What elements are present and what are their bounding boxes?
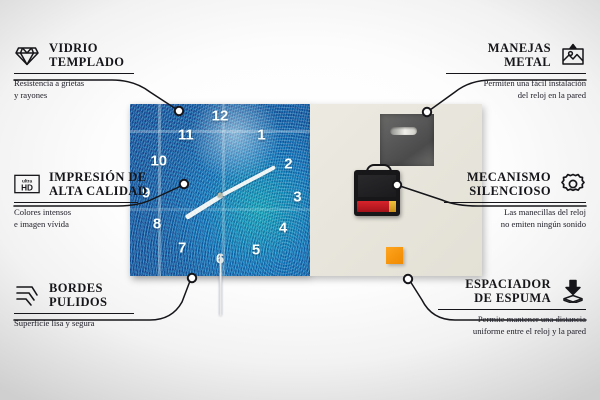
callout-bordes-pulidos: BORDES PULIDOS Superficie lisa y segura (14, 281, 214, 330)
callout-mecanismo-silencioso: MECANISMO SILENCIOSO Las manecillas del … (386, 170, 586, 230)
callout-description: Superficie lisa y segura (14, 318, 214, 330)
gear-icon (560, 172, 586, 196)
clock-numeral-10: 10 (150, 153, 167, 168)
clock-center-pin (218, 193, 223, 198)
callout-description: Las manecillas del reloj no emiten ningú… (386, 207, 586, 230)
callout-title: VIDRIO TEMPLADO (49, 41, 124, 69)
diamond-icon (14, 43, 40, 67)
callout-manejas-metal: MANEJAS METAL Permiten una fácil instala… (386, 41, 586, 101)
picture-hanger-icon (560, 43, 586, 67)
metal-hanger-plate (380, 114, 434, 166)
callout-divider (14, 73, 134, 74)
polished-edges-icon (14, 283, 40, 307)
clock-numeral-5: 5 (252, 243, 260, 258)
infographic-canvas: 12 1 2 3 4 5 6 7 8 9 10 11 (0, 0, 600, 400)
callout-header: MANEJAS METAL (386, 41, 586, 69)
callout-title: ESPACIADOR DE ESPUMA (465, 277, 551, 305)
callout-header: ultra HD IMPRESIÓN DE ALTA CALIDAD (14, 170, 214, 198)
callout-title: BORDES PULIDOS (49, 281, 107, 309)
svg-text:HD: HD (21, 184, 33, 193)
callout-divider (446, 73, 586, 74)
clock-numeral-4: 4 (279, 220, 287, 235)
callout-header: ESPACIADOR DE ESPUMA (386, 277, 586, 305)
hanger-slot (390, 127, 417, 135)
callout-divider (14, 202, 138, 203)
callout-title: MANEJAS METAL (488, 41, 551, 69)
callout-title: IMPRESIÓN DE ALTA CALIDAD (49, 170, 147, 198)
callout-description: Permiten una fácil instalación del reloj… (386, 78, 586, 101)
foam-spacer-sample (386, 247, 403, 264)
callout-espaciador-espuma: ESPACIADOR DE ESPUMA Permite mantener un… (386, 277, 586, 337)
callout-vidrio-templado: VIDRIO TEMPLADO Resistencia a grietas y … (14, 41, 214, 101)
callout-header: VIDRIO TEMPLADO (14, 41, 214, 69)
callout-description: Colores intensos e imagen vívida (14, 207, 214, 230)
clock-minute-hand (221, 165, 276, 197)
callout-description: Resistencia a grietas y rayones (14, 78, 214, 101)
ultra-hd-icon: ultra HD (14, 172, 40, 196)
clock-numeral-6: 6 (216, 251, 224, 266)
callout-header: MECANISMO SILENCIOSO (386, 170, 586, 198)
clock-numeral-7: 7 (178, 241, 186, 256)
callout-divider (444, 202, 586, 203)
clock-numeral-1: 1 (257, 127, 265, 142)
clock-numeral-3: 3 (293, 189, 301, 204)
clock-second-hand (220, 255, 222, 317)
callout-description: Permite mantener una distancia uniforme … (386, 314, 586, 337)
clock-numeral-11: 11 (178, 127, 194, 142)
callout-impresion-alta-calidad: ultra HD IMPRESIÓN DE ALTA CALIDAD Color… (14, 170, 214, 230)
svg-text:ultra: ultra (22, 178, 33, 183)
callout-title: MECANISMO SILENCIOSO (467, 170, 551, 198)
callout-divider (14, 313, 134, 314)
foam-spacer-icon (560, 279, 586, 303)
callout-header: BORDES PULIDOS (14, 281, 214, 309)
clock-numeral-2: 2 (284, 157, 292, 172)
clock-numeral-12: 12 (212, 109, 229, 124)
callout-divider (438, 309, 586, 310)
